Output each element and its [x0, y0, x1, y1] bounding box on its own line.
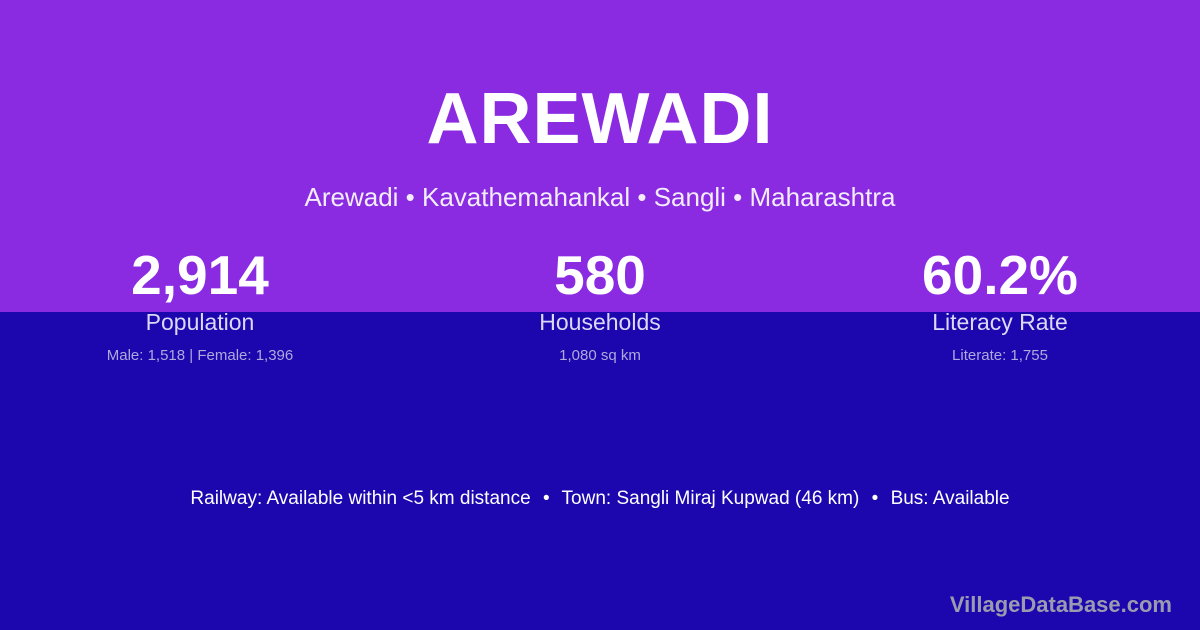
stats-row: 2,914 Population Male: 1,518 | Female: 1… [0, 246, 1200, 365]
amenity-town: Town: Sangli Miraj Kupwad (46 km) [562, 488, 860, 509]
stat-literacy-rate: 60.2% Literacy Rate Literate: 1,755 [800, 246, 1200, 365]
stat-population: 2,914 Population Male: 1,518 | Female: 1… [0, 246, 400, 365]
stat-value: 580 [400, 246, 800, 305]
stat-detail: Literate: 1,755 [800, 347, 1200, 365]
stat-detail: Male: 1,518 | Female: 1,396 [0, 347, 400, 365]
village-info-card: AREWADI Arewadi • Kavathemahankal • Sang… [0, 0, 1200, 630]
amenity-railway: Railway: Available within <5 km distance [190, 488, 530, 509]
stat-value: 2,914 [0, 246, 400, 305]
stat-detail: 1,080 sq km [400, 347, 800, 365]
stat-label: Population [0, 309, 400, 337]
card-content: AREWADI Arewadi • Kavathemahankal • Sang… [0, 0, 1200, 630]
amenity-separator-icon: • [865, 487, 886, 512]
amenity-bus: Bus: Available [891, 488, 1010, 509]
amenities-line: Railway: Available within <5 km distance… [0, 487, 1200, 512]
site-brand-watermark: VillageDataBase.com [950, 592, 1172, 618]
stat-label: Literacy Rate [800, 309, 1200, 337]
page-title: AREWADI [0, 82, 1200, 158]
stat-label: Households [400, 309, 800, 337]
stat-value: 60.2% [800, 246, 1200, 305]
amenity-separator-icon: • [536, 487, 557, 512]
breadcrumb: Arewadi • Kavathemahankal • Sangli • Mah… [0, 182, 1200, 213]
stat-households: 580 Households 1,080 sq km [400, 246, 800, 365]
